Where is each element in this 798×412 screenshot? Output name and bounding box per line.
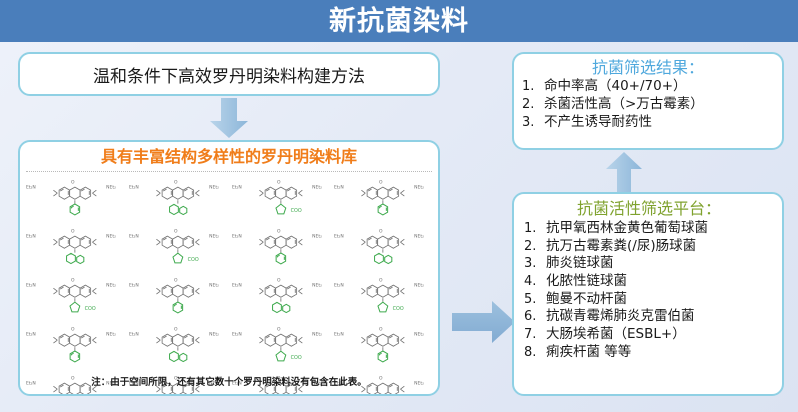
screening-result-item-label: 命中率高（40+/70+） [544,78,774,96]
screening-result-item-number: 3. [522,114,544,131]
svg-text:NEt₂: NEt₂ [106,282,116,288]
screening-result-item-label: 不产生诱导耐药性 [544,114,774,132]
rhodamine-dye-structure: Et₂NNEt₂O [127,176,229,224]
svg-text:Et₂N: Et₂N [26,331,36,337]
svg-text:NEt₂: NEt₂ [106,331,116,337]
svg-text:O: O [276,228,280,234]
screening-platform-item-label: 抗甲氧西林金黄色葡萄球菌 [546,220,774,237]
svg-text:O: O [276,179,280,185]
screening-platform-item: 7.大肠埃希菌（ESBL+） [524,326,774,344]
dye-library-title: 具有丰富结构多样性的罗丹明染料库 [20,142,438,171]
svg-text:NEt₂: NEt₂ [414,331,424,337]
svg-text:O: O [174,277,178,283]
screening-platform-item-label: 大肠埃希菌（ESBL+） [546,326,774,343]
screening-platform-item-number: 6. [524,309,546,326]
dye-library-note: 注：由于空间所限，还有其它数十个罗丹明染料没有包含在此表。 [20,374,438,388]
svg-text:Et₂N: Et₂N [26,233,36,239]
svg-text:NEt₂: NEt₂ [209,184,219,190]
svg-text:O: O [276,277,280,283]
rhodamine-dye-structure: Et₂NNEt₂O [332,176,434,224]
screening-result-item: 2.杀菌活性高（>万古霉素） [522,96,774,114]
screening-platform-item-label: 抗万古霉素粪(/尿)肠球菌 [546,238,774,255]
screening-platform-item-label: 肺炎链球菌 [546,255,774,272]
screening-platform-item-label: 痢疾杆菌 等等 [546,344,774,361]
screening-results-title: 抗菌筛选结果： [522,59,774,78]
svg-text:O: O [379,326,383,332]
svg-text:Et₂N: Et₂N [334,184,344,190]
screening-platform-item-number: 1. [524,221,546,238]
svg-text:O: O [71,277,75,283]
svg-text:NEt₂: NEt₂ [312,331,322,337]
svg-text:O: O [174,228,178,234]
svg-text:NEt₂: NEt₂ [312,282,322,288]
screening-platform-item-label: 化脓性链球菌 [546,273,774,290]
svg-text:Et₂N: Et₂N [129,282,139,288]
svg-text:Et₂N: Et₂N [129,184,139,190]
dye-library-box: 具有丰富结构多样性的罗丹明染料库 Et₂NNEt₂OEt₂NNEt₂OEt₂NN… [18,140,440,396]
svg-text:NEt₂: NEt₂ [209,282,219,288]
rhodamine-dye-structure: Et₂NNEt₂OCOO [127,225,229,273]
screening-platform-item-number: 3. [524,256,546,273]
svg-text:Et₂N: Et₂N [334,331,344,337]
svg-text:O: O [174,326,178,332]
svg-text:COO: COO [290,355,301,361]
screening-platform-list: 1.抗甲氧西林金黄色葡萄球菌2.抗万古霉素粪(/尿)肠球菌3.肺炎链球菌4.化脓… [524,220,774,361]
rhodamine-dye-structure: Et₂NNEt₂O [332,225,434,273]
screening-platform-item: 4.化脓性链球菌 [524,273,774,291]
svg-text:COO: COO [393,306,404,312]
screening-platform-item: 3.肺炎链球菌 [524,255,774,273]
rhodamine-dye-structure: Et₂NNEt₂O [24,323,126,371]
rhodamine-dye-structure: Et₂NNEt₂O [230,225,332,273]
screening-platform-item-number: 5. [524,292,546,309]
screening-platform-item-number: 4. [524,274,546,291]
page-header: 新抗菌染料 [0,0,798,42]
svg-text:NEt₂: NEt₂ [312,184,322,190]
svg-text:O: O [379,228,383,234]
svg-text:Et₂N: Et₂N [26,184,36,190]
rhodamine-dye-structure: Et₂NNEt₂OCOO [24,274,126,322]
svg-text:Et₂N: Et₂N [26,282,36,288]
svg-text:NEt₂: NEt₂ [414,233,424,239]
svg-text:Et₂N: Et₂N [231,233,241,239]
screening-platform-item: 1.抗甲氧西林金黄色葡萄球菌 [524,220,774,238]
svg-text:NEt₂: NEt₂ [414,282,424,288]
screening-result-item: 3.不产生诱导耐药性 [522,114,774,132]
page-title: 新抗菌染料 [329,8,469,35]
screening-platform-item: 8.痢疾杆菌 等等 [524,344,774,362]
svg-text:NEt₂: NEt₂ [209,331,219,337]
arrow-right-icon [452,300,516,344]
svg-text:NEt₂: NEt₂ [106,233,116,239]
svg-text:O: O [174,179,178,185]
rhodamine-dye-structure: Et₂NNEt₂O [332,323,434,371]
rhodamine-dye-structure: Et₂NNEt₂O [127,274,229,322]
svg-text:Et₂N: Et₂N [231,331,241,337]
dye-structure-grid: Et₂NNEt₂OEt₂NNEt₂OEt₂NNEt₂OCOOEt₂NNEt₂OE… [20,172,438,396]
svg-text:NEt₂: NEt₂ [312,233,322,239]
svg-text:O: O [71,326,75,332]
rhodamine-dye-structure: Et₂NNEt₂O [127,323,229,371]
svg-text:O: O [71,228,75,234]
screening-result-item-number: 1. [522,78,544,95]
svg-text:Et₂N: Et₂N [334,233,344,239]
svg-text:O: O [379,179,383,185]
screening-result-item-number: 2. [522,96,544,113]
screening-platform-item-number: 2. [524,239,546,256]
svg-text:Et₂N: Et₂N [334,282,344,288]
svg-text:COO: COO [187,257,198,263]
screening-platform-item-label: 抗碳青霉烯肺炎克雷伯菌 [546,308,774,325]
svg-text:O: O [276,326,280,332]
screening-platform-item-number: 8. [524,345,546,362]
svg-text:Et₂N: Et₂N [231,282,241,288]
screening-platform-item-label: 鲍曼不动杆菌 [546,291,774,308]
svg-text:O: O [71,179,75,185]
svg-text:COO: COO [85,306,96,312]
rhodamine-dye-structure: Et₂NNEt₂OCOO [230,176,332,224]
screening-platform-title: 抗菌活性筛选平台： [524,199,774,220]
rhodamine-dye-structure: Et₂NNEt₂OCOO [332,274,434,322]
screening-platform-item-number: 7. [524,327,546,344]
screening-result-item-label: 杀菌活性高（>万古霉素） [544,96,774,114]
svg-text:Et₂N: Et₂N [129,331,139,337]
rhodamine-dye-structure: Et₂NNEt₂O [24,225,126,273]
rhodamine-dye-structure: Et₂NNEt₂O [230,274,332,322]
screening-results-list: 1.命中率高（40+/70+）2.杀菌活性高（>万古霉素）3.不产生诱导耐药性 [522,78,774,131]
screening-platform-item: 2.抗万古霉素粪(/尿)肠球菌 [524,238,774,256]
svg-text:O: O [379,277,383,283]
screening-platform-item: 6.抗碳青霉烯肺炎克雷伯菌 [524,308,774,326]
svg-text:Et₂N: Et₂N [231,184,241,190]
method-box-text: 温和条件下高效罗丹明染料构建方法 [93,62,365,87]
svg-text:NEt₂: NEt₂ [209,233,219,239]
svg-text:NEt₂: NEt₂ [414,184,424,190]
svg-text:Et₂N: Et₂N [129,233,139,239]
screening-results-box: 抗菌筛选结果： 1.命中率高（40+/70+）2.杀菌活性高（>万古霉素）3.不… [512,52,784,150]
svg-text:COO: COO [290,208,301,214]
svg-text:NEt₂: NEt₂ [106,184,116,190]
rhodamine-dye-structure: Et₂NNEt₂O [24,176,126,224]
rhodamine-dye-structure: Et₂NNEt₂OCOO [230,323,332,371]
method-box: 温和条件下高效罗丹明染料构建方法 [18,52,440,96]
screening-result-item: 1.命中率高（40+/70+） [522,78,774,96]
screening-platform-item: 5.鲍曼不动杆菌 [524,291,774,309]
arrow-down-icon [208,98,250,138]
arrow-up-icon [605,152,643,194]
screening-platform-box: 抗菌活性筛选平台： 1.抗甲氧西林金黄色葡萄球菌2.抗万古霉素粪(/尿)肠球菌3… [512,192,784,396]
